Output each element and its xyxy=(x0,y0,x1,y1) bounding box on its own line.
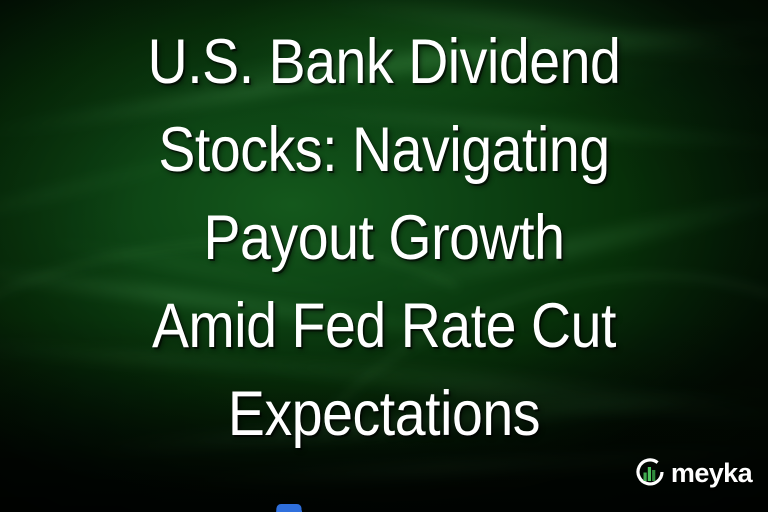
blue-cursor-badge[interactable] xyxy=(275,504,303,512)
meyka-wordmark: meyka xyxy=(671,460,752,487)
cover-canvas: U.S. Bank Dividend Stocks: Navigating Pa… xyxy=(0,0,768,512)
circle-bar-chart-icon xyxy=(633,456,667,490)
title-line-5: Expectations xyxy=(55,370,713,458)
title-line-4: Amid Fed Rate Cut xyxy=(55,282,713,370)
title-line-2: Stocks: Navigating xyxy=(55,106,713,194)
title-line-3: Payout Growth xyxy=(55,194,713,282)
title-line-1: U.S. Bank Dividend xyxy=(55,18,713,106)
page-title: U.S. Bank Dividend Stocks: Navigating Pa… xyxy=(0,18,768,458)
meyka-logo[interactable]: meyka xyxy=(633,456,752,490)
